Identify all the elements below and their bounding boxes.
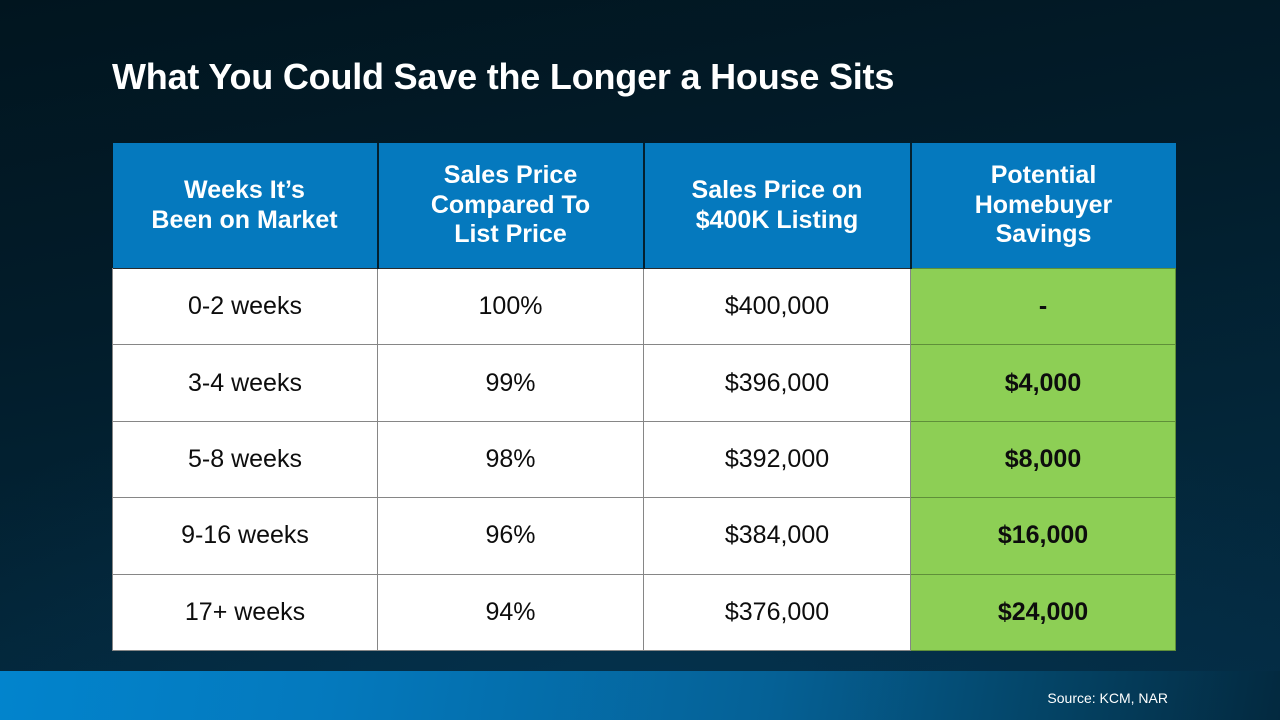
cell-price: $376,000 bbox=[644, 574, 911, 650]
cell-savings: $8,000 bbox=[911, 421, 1176, 497]
table-row: 17+ weeks 94% $376,000 $24,000 bbox=[113, 574, 1176, 650]
table-row: 5-8 weeks 98% $392,000 $8,000 bbox=[113, 421, 1176, 497]
source-attribution: Source: KCM, NAR bbox=[1047, 690, 1168, 706]
header-line-1: Sales Price on bbox=[692, 176, 863, 204]
header-line-3: List Price bbox=[454, 220, 567, 248]
cell-price: $384,000 bbox=[644, 498, 911, 574]
savings-table: Weeks It’s Been on Market Sales Price Co… bbox=[112, 143, 1176, 651]
cell-weeks: 3-4 weeks bbox=[113, 345, 378, 421]
header-line-1: Weeks It’s bbox=[184, 176, 305, 204]
cell-savings: $4,000 bbox=[911, 345, 1176, 421]
cell-weeks: 5-8 weeks bbox=[113, 421, 378, 497]
cell-percent: 98% bbox=[378, 421, 644, 497]
header-line-3: Savings bbox=[996, 220, 1092, 248]
column-header-weeks-on-market: Weeks It’s Been on Market bbox=[113, 143, 378, 269]
page-title: What You Could Save the Longer a House S… bbox=[112, 56, 894, 98]
column-header-potential-savings: Potential Homebuyer Savings bbox=[911, 143, 1176, 269]
table-row: 9-16 weeks 96% $384,000 $16,000 bbox=[113, 498, 1176, 574]
header-line-1: Potential bbox=[991, 161, 1097, 189]
header-line-1: Sales Price bbox=[444, 161, 577, 189]
table-row: 0-2 weeks 100% $400,000 - bbox=[113, 269, 1176, 345]
header-line-2: Been on Market bbox=[151, 206, 337, 234]
header-line-2: Homebuyer bbox=[975, 191, 1113, 219]
cell-percent: 96% bbox=[378, 498, 644, 574]
cell-savings: $16,000 bbox=[911, 498, 1176, 574]
column-header-sales-price-vs-list: Sales Price Compared To List Price bbox=[378, 143, 644, 269]
cell-price: $396,000 bbox=[644, 345, 911, 421]
table-body: 0-2 weeks 100% $400,000 - 3-4 weeks 99% … bbox=[113, 269, 1176, 651]
cell-percent: 99% bbox=[378, 345, 644, 421]
cell-weeks: 0-2 weeks bbox=[113, 269, 378, 345]
header-line-2: Compared To bbox=[431, 191, 590, 219]
savings-table-container: Weeks It’s Been on Market Sales Price Co… bbox=[112, 143, 1175, 635]
column-header-sales-price-400k: Sales Price on $400K Listing bbox=[644, 143, 911, 269]
cell-price: $392,000 bbox=[644, 421, 911, 497]
slide-canvas: What You Could Save the Longer a House S… bbox=[0, 0, 1280, 720]
cell-weeks: 17+ weeks bbox=[113, 574, 378, 650]
table-row: 3-4 weeks 99% $396,000 $4,000 bbox=[113, 345, 1176, 421]
cell-savings: - bbox=[911, 269, 1176, 345]
cell-percent: 100% bbox=[378, 269, 644, 345]
header-line-2: $400K Listing bbox=[696, 206, 859, 234]
table-header-row: Weeks It’s Been on Market Sales Price Co… bbox=[113, 143, 1176, 269]
cell-weeks: 9-16 weeks bbox=[113, 498, 378, 574]
cell-price: $400,000 bbox=[644, 269, 911, 345]
cell-percent: 94% bbox=[378, 574, 644, 650]
cell-savings: $24,000 bbox=[911, 574, 1176, 650]
